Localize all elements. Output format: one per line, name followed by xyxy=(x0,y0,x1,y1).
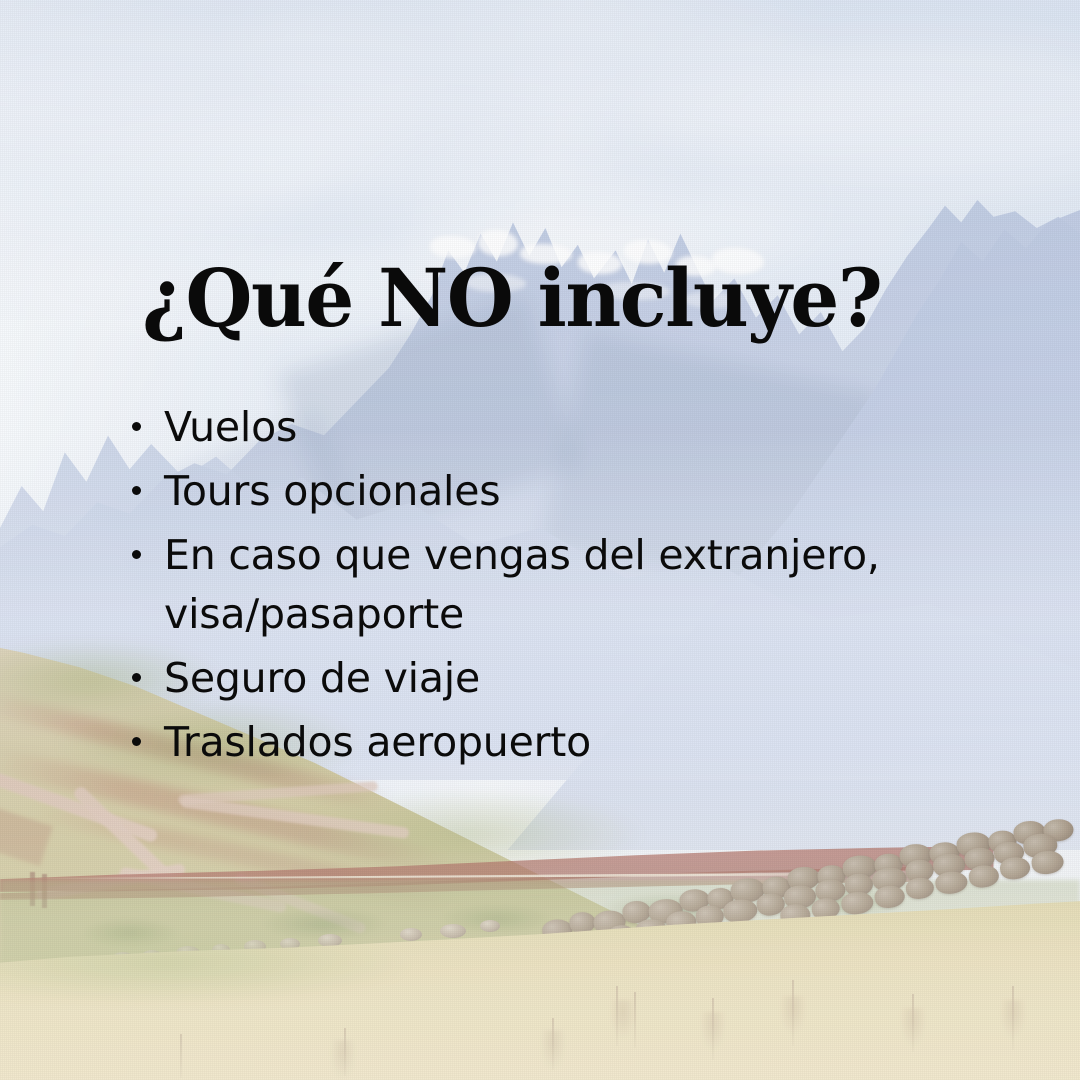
list-item-label: Seguro de viaje xyxy=(164,654,480,702)
bullet-dot-icon xyxy=(132,422,141,431)
list-item-label: Tours opcionales xyxy=(164,467,500,515)
bullet-dot-icon xyxy=(132,486,141,495)
list-item: Tours opcionales xyxy=(128,462,958,520)
list-item: Vuelos xyxy=(128,398,958,456)
bullet-dot-icon xyxy=(132,737,141,746)
list-item: Seguro de viaje xyxy=(128,649,958,707)
exclusions-list: Vuelos Tours opcionales En caso que veng… xyxy=(128,398,958,777)
list-item-label: En caso que vengas del extranjero, visa/… xyxy=(164,531,880,637)
bullet-dot-icon xyxy=(132,673,141,682)
list-item: Traslados aeropuerto xyxy=(128,713,958,771)
list-item: En caso que vengas del extranjero, visa/… xyxy=(128,526,958,642)
list-item-label: Vuelos xyxy=(164,403,297,451)
bullet-dot-icon xyxy=(132,550,141,559)
page-title: ¿Qué NO incluye? xyxy=(142,258,881,338)
poster-content: ¿Qué NO incluye? Vuelos Tours opcionales… xyxy=(0,0,1080,1080)
list-item-label: Traslados aeropuerto xyxy=(164,718,591,766)
promo-poster: ¿Qué NO incluye? Vuelos Tours opcionales… xyxy=(0,0,1080,1080)
